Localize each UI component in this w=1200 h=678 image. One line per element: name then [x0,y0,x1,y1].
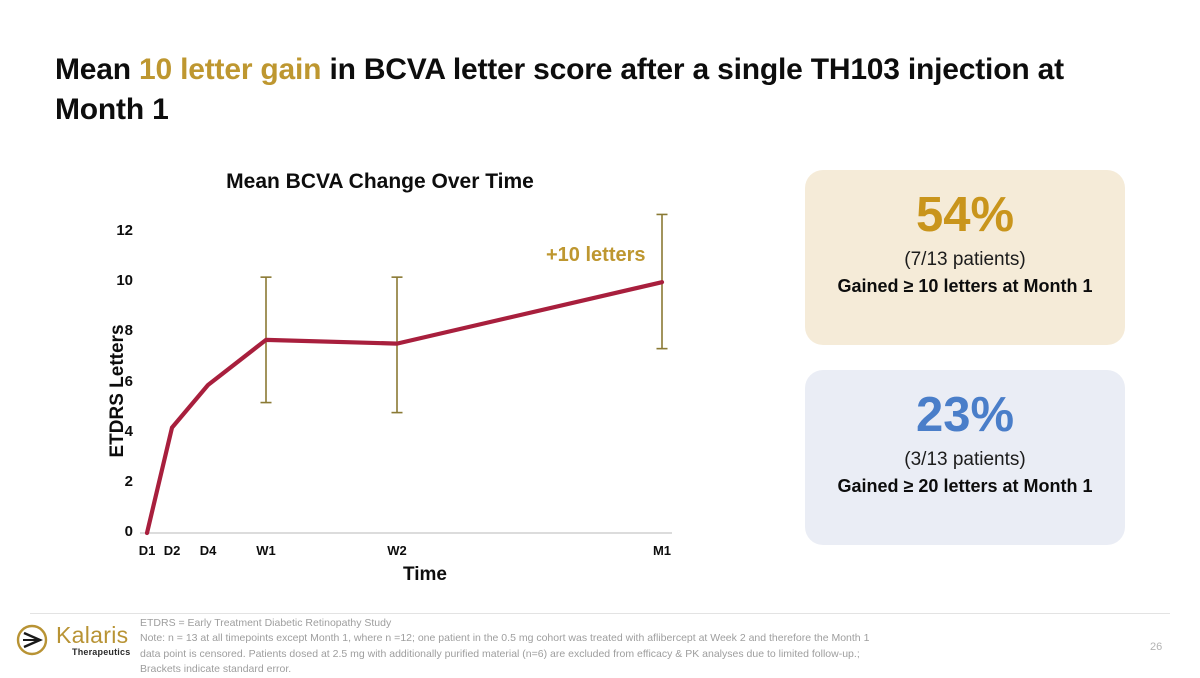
y-tick-label: 8 [95,322,133,339]
footnote-line: ETDRS = Early Treatment Diabetic Retinop… [140,616,885,631]
x-tick-label-w1: W1 [256,543,276,558]
stat-value: 54% [805,184,1125,247]
page-title-highlight: 10 letter gain [139,53,321,86]
plot-area [50,160,770,600]
y-tick-label: 0 [95,523,133,540]
data-series-line [147,282,662,533]
page-number: 26 [1150,641,1162,653]
x-tick-label-m1: M1 [653,543,671,558]
kalaris-mark-icon [14,622,50,658]
page-title-part1: Mean [55,53,139,86]
y-tick-label: 6 [95,373,133,390]
y-tick-label: 12 [95,222,133,239]
stat-description: Gained ≥ 20 letters at Month 1 [805,473,1125,499]
x-tick-label-w2: W2 [387,543,407,558]
x-tick-label-d2: D2 [164,543,181,558]
stat-value: 23% [805,384,1125,447]
kalaris-logo: Kalaris Therapeutics [14,622,134,664]
stat-description: Gained ≥ 10 letters at Month 1 [805,273,1125,299]
y-tick-label: 2 [95,473,133,490]
logo-tagline: Therapeutics [72,647,130,657]
stat-patients: (7/13 patients) [805,247,1125,274]
bcva-line-chart: Mean BCVA Change Over Time ETDRS Letters… [50,160,770,600]
footer-divider [30,613,1170,614]
stat-card-10-letters: 54% (7/13 patients) Gained ≥ 10 letters … [805,170,1125,345]
chart-annotation: +10 letters [546,244,646,267]
stat-card-20-letters: 23% (3/13 patients) Gained ≥ 20 letters … [805,370,1125,545]
footnote: ETDRS = Early Treatment Diabetic Retinop… [140,616,885,678]
x-tick-label-d4: D4 [200,543,217,558]
logo-wordmark: Kalaris [56,622,128,649]
y-tick-label: 4 [95,423,133,440]
x-tick-label-d1: D1 [139,543,156,558]
page-title: Mean 10 letter gain in BCVA letter score… [55,50,1075,130]
y-tick-label: 10 [95,272,133,289]
footnote-line: Note: n = 13 at all timepoints except Mo… [140,631,885,677]
chart-svg [50,160,770,600]
stat-patients: (3/13 patients) [805,447,1125,474]
